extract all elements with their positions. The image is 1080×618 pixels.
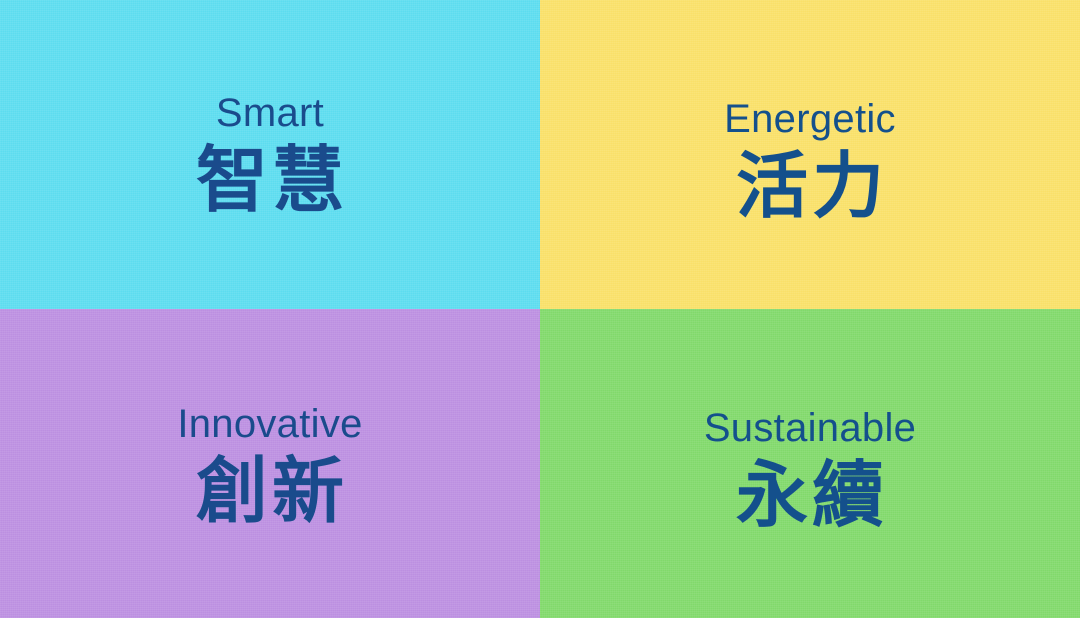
value-label-en-innovative: Innovative bbox=[177, 403, 362, 445]
value-tile-smart: Smart 智慧 bbox=[0, 0, 540, 309]
value-tile-energetic: Energetic 活力 bbox=[540, 0, 1080, 309]
value-tile-smart-content: Smart 智慧 bbox=[192, 92, 348, 217]
value-label-zh-smart: 智慧 bbox=[192, 144, 348, 217]
value-tile-innovative-content: Innovative 創新 bbox=[177, 403, 362, 528]
value-label-zh-energetic: 活力 bbox=[732, 150, 888, 223]
value-label-zh-sustainable: 永續 bbox=[732, 459, 888, 532]
value-tile-energetic-content: Energetic 活力 bbox=[724, 98, 896, 223]
value-label-en-energetic: Energetic bbox=[724, 98, 896, 140]
value-label-zh-innovative: 創新 bbox=[192, 455, 348, 528]
value-label-en-smart: Smart bbox=[216, 92, 324, 134]
value-tile-innovative: Innovative 創新 bbox=[0, 309, 540, 618]
value-tile-sustainable-content: Sustainable 永續 bbox=[704, 407, 916, 532]
brand-values-grid: Smart 智慧 Energetic 活力 Innovative 創新 Sust… bbox=[0, 0, 1080, 618]
value-tile-sustainable: Sustainable 永續 bbox=[540, 309, 1080, 618]
value-label-en-sustainable: Sustainable bbox=[704, 407, 916, 449]
